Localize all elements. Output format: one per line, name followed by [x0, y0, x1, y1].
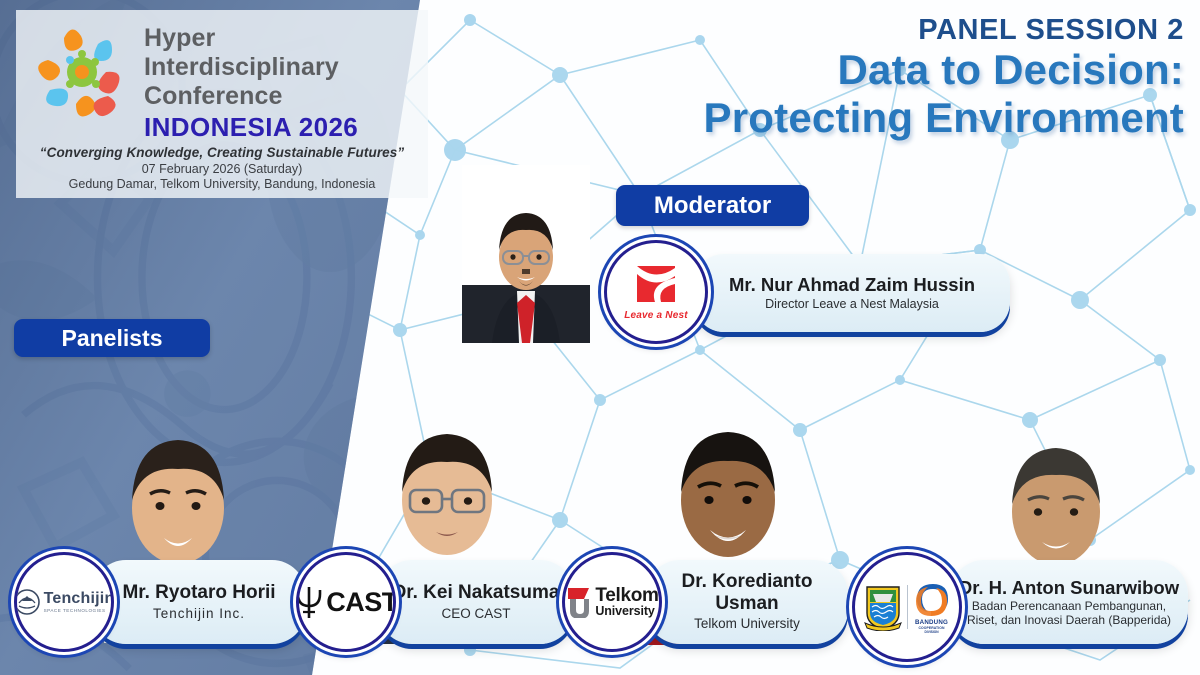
panelist-2-nameplate: Dr. Kei Nakatsuma CEO CAST [378, 560, 574, 644]
hyper-interdisciplinary-flower-logo [26, 20, 138, 128]
tenchijin-logo-text: Tenchijin [44, 591, 114, 607]
moderator-name: Mr. Nur Ahmad Zaim Hussin [729, 274, 975, 295]
panelists-badge: Panelists [14, 319, 210, 357]
tenchijin-logo-subtext: SPACE TECHNOLOGIES [44, 609, 114, 614]
bandung-city-and-cooperation-logo: BANDUNG COOPERATION DIVISION [852, 552, 962, 662]
panelist-1-nameplate: Mr. Ryotaro Horii Tenchijin Inc. [92, 560, 306, 644]
panelist-2-name: Dr. Kei Nakatsuma [393, 582, 560, 604]
leave-a-nest-logo: Leave a Nest [604, 240, 708, 344]
cast-logo-text: CAST [326, 587, 396, 618]
panelist-4-affiliation-line2: Riset, dan Inovasi Daerah (Bapperida) [967, 614, 1171, 628]
conference-venue: Gedung Damar, Telkom University, Bandung… [26, 177, 418, 191]
panelist-1-affiliation: Tenchijin Inc. [153, 606, 245, 622]
panelist-card-1: Mr. Ryotaro Horii Tenchijin Inc. Tenchij… [14, 552, 314, 656]
panelist-3-affiliation: Telkom University [694, 616, 800, 632]
conference-title-line3: Conference [144, 82, 418, 111]
panelist-3-nameplate: Dr. Koredianto Usman Telkom University [646, 560, 848, 644]
logo-divider [907, 585, 908, 629]
panelist-2-affiliation: CEO CAST [441, 606, 510, 622]
bandung-cooperation-subtext2: DIVISION [925, 630, 939, 634]
conference-title-line2: Interdisciplinary [144, 53, 418, 82]
panelist-4-affiliation-line1: Badan Perencanaan Pembangunan, [972, 600, 1166, 614]
conference-title-line1: Hyper [144, 24, 418, 53]
moderator-nameplate: Mr. Nur Ahmad Zaim Hussin Director Leave… [694, 254, 1010, 332]
bandung-cooperation-icon [912, 581, 952, 619]
panelist-card-3: Dr. Koredianto Usman Telkom University T… [562, 552, 852, 656]
panelist-card-2: Dr. Kei Nakatsuma CEO CAST CAST [296, 552, 582, 656]
bandung-city-crest-icon [863, 583, 903, 631]
moderator-badge: Moderator [616, 185, 809, 226]
cast-logo: CAST [296, 552, 396, 652]
leave-a-nest-logo-text: Leave a Nest [624, 310, 688, 321]
session-label: PANEL SESSION 2 [484, 14, 1184, 46]
poster-canvas: Hyper Interdisciplinary Conference INDON… [0, 0, 1200, 675]
panelist-1-name: Mr. Ryotaro Horii [122, 582, 275, 604]
conference-edition: INDONESIA 2026 [144, 112, 418, 143]
telkom-university-logo: Telkom University [562, 552, 662, 652]
moderator-card: Mr. Nur Ahmad Zaim Hussin Director Leave… [604, 240, 1024, 348]
panelist-4-nameplate: Dr. H. Anton Sunarwibow Badan Perencanaa… [950, 560, 1188, 644]
page-title: PANEL SESSION 2 Data to Decision: Protec… [484, 14, 1184, 141]
panelist-4-name: Dr. H. Anton Sunarwibow [959, 577, 1179, 598]
tenchijin-logo: Tenchijin SPACE TECHNOLOGIES [14, 552, 114, 652]
conference-date: 07 February 2026 (Saturday) [26, 162, 418, 176]
conference-header-card: Hyper Interdisciplinary Conference INDON… [16, 10, 428, 198]
moderator-title: Director Leave a Nest Malaysia [765, 297, 939, 312]
panel-title-line2: Protecting Environment [484, 94, 1184, 141]
telkom-logo-text: Telkom [595, 586, 658, 605]
panelist-card-4: Dr. H. Anton Sunarwibow Badan Perencanaa… [852, 552, 1192, 656]
bandung-cooperation-text: BANDUNG [915, 619, 948, 626]
conference-tagline: “Converging Knowledge, Creating Sustaina… [26, 145, 418, 160]
telkom-logo-subtext: University [595, 605, 658, 618]
panelist-3-name: Dr. Koredianto Usman [658, 571, 836, 614]
moderator-portrait [462, 165, 590, 343]
panel-title-line1: Data to Decision: [484, 46, 1184, 93]
